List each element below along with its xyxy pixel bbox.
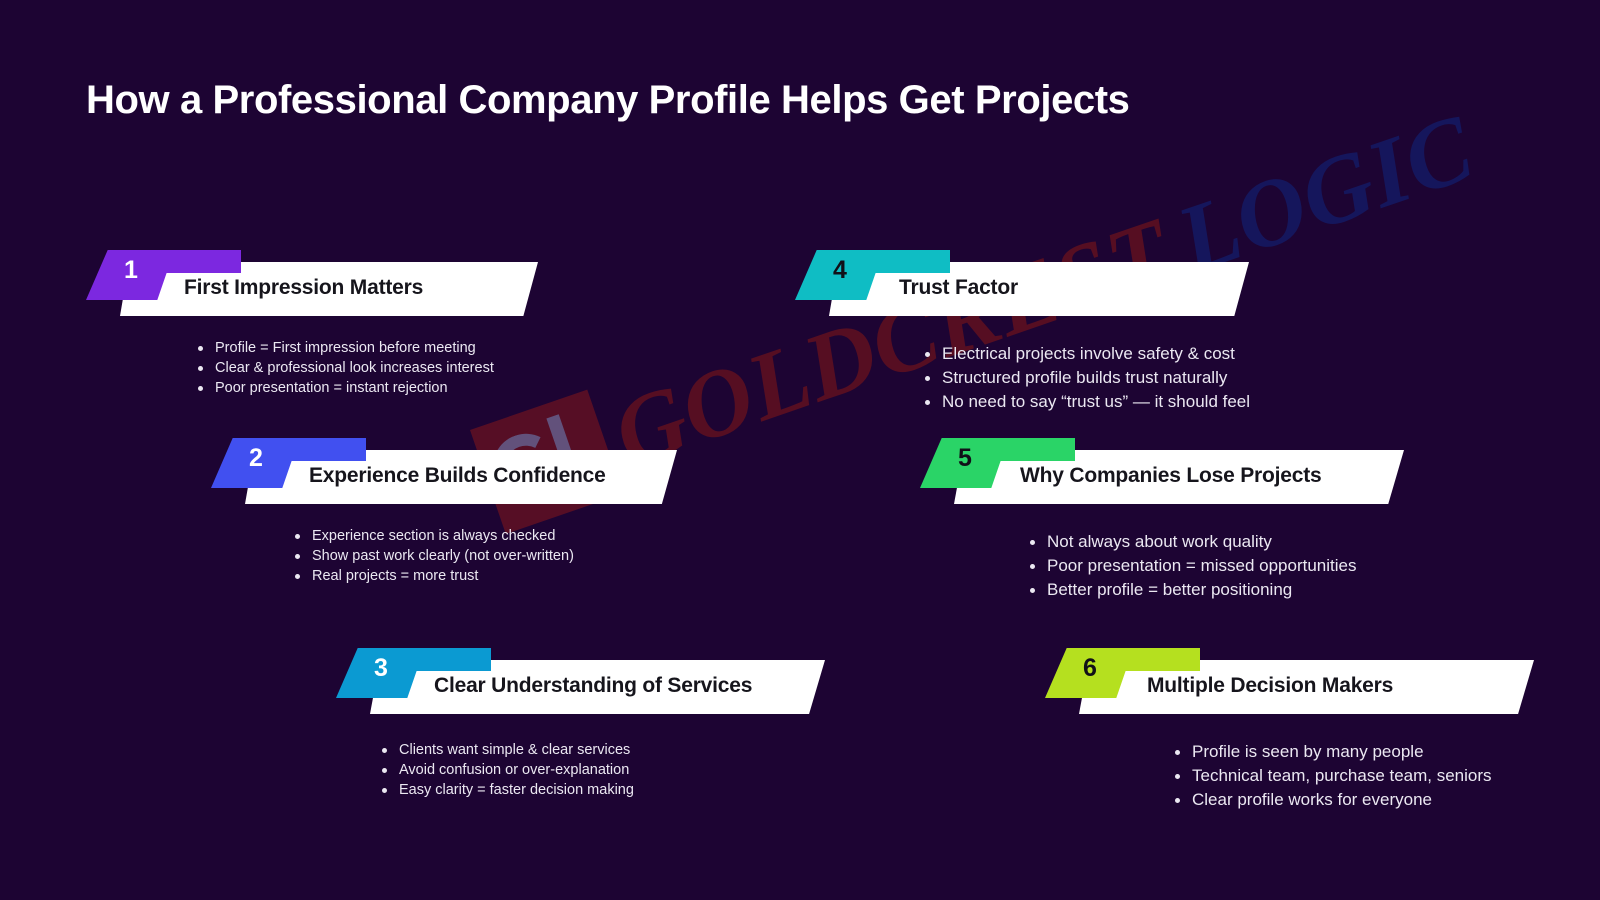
list-item: Better profile = better positioning [1028, 578, 1390, 602]
list-item: Profile = First impression before meetin… [196, 338, 546, 358]
card-4-bullets: Electrical projects involve safety & cos… [923, 342, 1265, 414]
card-2-number: 2 [249, 446, 263, 471]
list-item: Electrical projects involve safety & cos… [923, 342, 1265, 366]
card-6-number: 6 [1083, 656, 1097, 681]
card-1-bullets: Profile = First impression before meetin… [196, 338, 546, 398]
card-1-banner: 1 First Impression Matters [86, 250, 546, 316]
card-4-number: 4 [833, 258, 847, 283]
list-item: Clear profile works for everyone [1173, 788, 1515, 812]
list-item: Show past work clearly (not over-written… [293, 546, 681, 566]
card-2-banner: 2 Experience Builds Confidence [211, 438, 681, 504]
card-2-title: Experience Builds Confidence [309, 464, 606, 488]
list-item: Real projects = more trust [293, 566, 681, 586]
list-item: Structured profile builds trust naturall… [923, 366, 1265, 390]
list-item: Not always about work quality [1028, 530, 1390, 554]
list-item: Easy clarity = faster decision making [380, 780, 806, 800]
card-1-title: First Impression Matters [184, 276, 423, 300]
list-item: Technical team, purchase team, seniors [1173, 764, 1515, 788]
card-5-number: 5 [958, 446, 972, 471]
card-4: 4 Trust Factor Electrical projects invol… [795, 250, 1265, 414]
infographic-canvas: GOLDCRESTLOGIC How a Professional Compan… [0, 0, 1600, 900]
list-item: No need to say “trust us” — it should fe… [923, 390, 1265, 414]
card-5-title: Why Companies Lose Projects [1020, 464, 1322, 488]
card-4-banner: 4 Trust Factor [795, 250, 1265, 316]
list-item: Poor presentation = instant rejection [196, 378, 546, 398]
card-5-bullets: Not always about work quality Poor prese… [1028, 530, 1390, 602]
list-item: Poor presentation = missed opportunities [1028, 554, 1390, 578]
card-3-title: Clear Understanding of Services [434, 674, 752, 698]
card-6-title: Multiple Decision Makers [1147, 674, 1393, 698]
card-2-bullets: Experience section is always checked Sho… [293, 526, 681, 586]
card-6-banner: 6 Multiple Decision Makers [1045, 648, 1515, 714]
card-6: 6 Multiple Decision Makers Profile is se… [1045, 648, 1515, 812]
card-3: 3 Clear Understanding of Services Client… [336, 648, 806, 800]
page-title: How a Professional Company Profile Helps… [86, 78, 1130, 123]
list-item: Clear & professional look increases inte… [196, 358, 546, 378]
card-4-title: Trust Factor [899, 276, 1018, 300]
card-2: 2 Experience Builds Confidence Experienc… [211, 438, 681, 586]
card-1-number: 1 [124, 258, 138, 283]
card-5-banner: 5 Why Companies Lose Projects [920, 438, 1390, 504]
card-3-number: 3 [374, 656, 388, 681]
card-3-bullets: Clients want simple & clear services Avo… [380, 740, 806, 800]
card-5: 5 Why Companies Lose Projects Not always… [920, 438, 1390, 602]
list-item: Clients want simple & clear services [380, 740, 806, 760]
list-item: Profile is seen by many people [1173, 740, 1515, 764]
list-item: Experience section is always checked [293, 526, 681, 546]
card-3-banner: 3 Clear Understanding of Services [336, 648, 806, 714]
card-1: 1 First Impression Matters Profile = Fir… [86, 250, 546, 398]
card-6-bullets: Profile is seen by many people Technical… [1173, 740, 1515, 812]
list-item: Avoid confusion or over-explanation [380, 760, 806, 780]
